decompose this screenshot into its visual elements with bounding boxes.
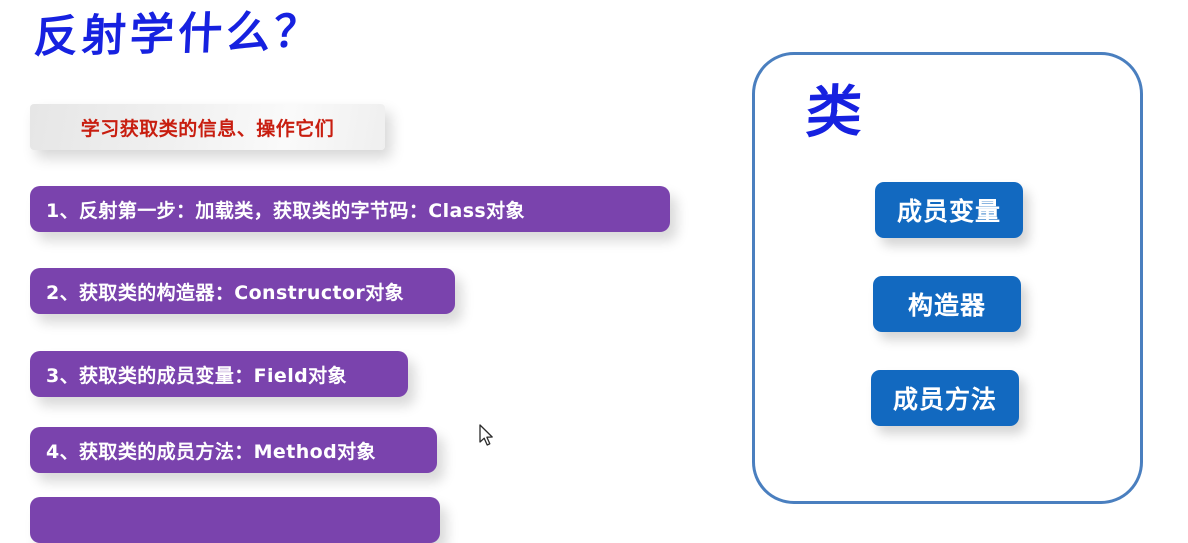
class-constructor-button[interactable]: 构造器 bbox=[873, 276, 1021, 332]
step-item-4-label: 4、获取类的成员方法：Method对象 bbox=[46, 437, 376, 464]
slide-canvas: 反射学什么？ 学习获取类的信息、操作它们 1、反射第一步：加载类，获取类的字节码… bbox=[0, 0, 1188, 515]
class-member-method-label: 成员方法 bbox=[893, 380, 997, 416]
class-panel-heading: 类 bbox=[804, 77, 864, 149]
step-item-5-offscreen[interactable] bbox=[30, 497, 440, 543]
class-constructor-label: 构造器 bbox=[908, 286, 986, 322]
step-list: 1、反射第一步：加载类，获取类的字节码：Class对象 2、获取类的构造器：Co… bbox=[0, 0, 740, 515]
class-member-method-button[interactable]: 成员方法 bbox=[871, 370, 1019, 426]
step-item-1-label: 1、反射第一步：加载类，获取类的字节码：Class对象 bbox=[46, 196, 525, 223]
class-member-variable-button[interactable]: 成员变量 bbox=[875, 182, 1023, 238]
step-item-2-label: 2、获取类的构造器：Constructor对象 bbox=[46, 278, 404, 305]
class-member-variable-label: 成员变量 bbox=[897, 192, 1001, 228]
step-item-2[interactable]: 2、获取类的构造器：Constructor对象 bbox=[30, 268, 455, 314]
step-item-4[interactable]: 4、获取类的成员方法：Method对象 bbox=[30, 427, 437, 473]
step-item-1[interactable]: 1、反射第一步：加载类，获取类的字节码：Class对象 bbox=[30, 186, 670, 232]
step-item-3[interactable]: 3、获取类的成员变量：Field对象 bbox=[30, 351, 408, 397]
step-item-3-label: 3、获取类的成员变量：Field对象 bbox=[46, 361, 347, 388]
